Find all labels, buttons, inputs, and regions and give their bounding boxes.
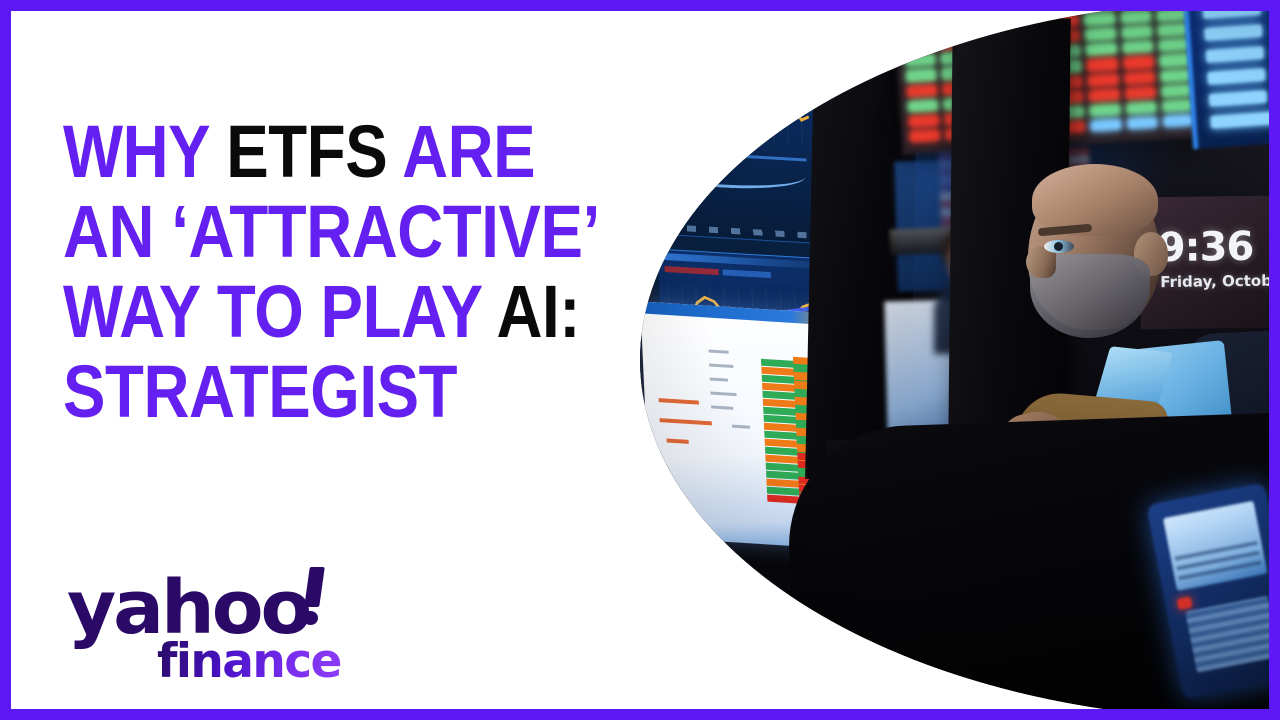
chart-yellow-line-top <box>659 84 810 147</box>
trading-floor-photo-mask: 9:36 Friday, October 20 <box>640 11 1269 709</box>
headline-line-1: WHY ETFS ARE <box>63 116 579 188</box>
trading-floor-photo: 9:36 Friday, October 20 <box>640 11 1269 709</box>
finance-wordmark: finance <box>157 639 341 685</box>
headline: WHY ETFS ARE AN ‘ATTRACTIVE’ WAY TO PLAY… <box>63 116 663 436</box>
headline-phrase-way-to-play: WAY TO PLAY <box>63 270 496 353</box>
headline-line-2: AN ‘ATTRACTIVE’ <box>63 196 579 268</box>
yahoo-wordmark: yahoo <box>67 573 309 643</box>
headline-word-why: WHY <box>63 110 226 193</box>
thumbnail-canvas: WHY ETFS ARE AN ‘ATTRACTIVE’ WAY TO PLAY… <box>11 11 1269 709</box>
yahoo-finance-logo: yahoo finance <box>67 573 357 691</box>
headline-line-4: STRATEGIST <box>63 356 579 428</box>
headline-word-ai: AI: <box>496 270 580 353</box>
yahoo-exclamation-icon <box>303 567 323 625</box>
headline-word-etfs: ETFS <box>226 110 402 193</box>
headline-word-are: ARE <box>402 110 535 193</box>
headline-phrase-an-attractive: AN ‘ATTRACTIVE’ <box>63 190 600 273</box>
headline-line-3: WAY TO PLAY AI: <box>63 276 579 348</box>
blue-ticker-board <box>1183 11 1269 149</box>
video-thumbnail: WHY ETFS ARE AN ‘ATTRACTIVE’ WAY TO PLAY… <box>0 0 1280 720</box>
headline-word-strategist: STRATEGIST <box>63 350 457 433</box>
